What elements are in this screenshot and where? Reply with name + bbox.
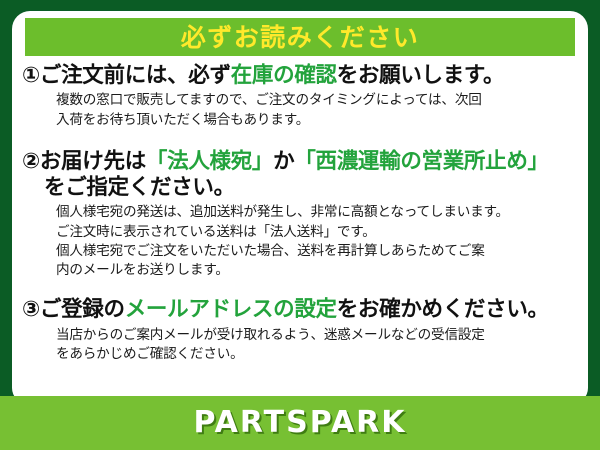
notice-item-2-heading-highlight-1: 「法人様宛」: [146, 149, 273, 174]
notice-item-2-heading-highlight-2: 「西濃運輸の営業所止め」: [294, 149, 548, 174]
notice-item-1: ①ご注文前には、必ず在庫の確認をお願いします。 複数の窓口で販売してますので、ご…: [22, 63, 580, 130]
notice-item-3-body-line-1: をあらかじめご確認ください。: [56, 346, 244, 362]
notice-title: 必ずお読みください: [181, 25, 420, 50]
notice-item-2-marker: ②: [22, 149, 40, 174]
notice-item-1-heading-highlight: 在庫の確認: [231, 63, 337, 88]
notice-item-1-body-line-1: 入荷をお待ち頂いただく場合もあります。: [56, 112, 309, 128]
notice-item-3-heading-highlight: メールアドレスの設定: [125, 297, 337, 322]
notice-item-1-heading-part-2: をお願いします。: [337, 63, 504, 88]
notice-item-1-marker: ①: [22, 63, 40, 88]
notice-item-3-body: 当店からのご案内メールが受け取れるよう、迷惑メールなどの受信設定 をあらかじめご…: [56, 326, 580, 365]
notice-item-1-heading: ①ご注文前には、必ず在庫の確認をお願いします。: [22, 63, 580, 89]
notice-item-2-heading: ②お届け先は「法人様宛」か「西濃運輸の営業所止め」: [22, 149, 580, 175]
notice-item-2-body-line-3: 内のメールをお送りします。: [56, 262, 229, 278]
notice-item-2-heading-part-2: か: [273, 149, 294, 174]
notice-item-1-heading-part-0: ご注文前には、必ず: [40, 63, 231, 88]
notice-item-3-marker: ③: [22, 297, 40, 322]
notice-panel: 必ずお読みください ①ご注文前には、必ず在庫の確認をお願いします。 複数の窓口で…: [12, 11, 588, 404]
notice-item-3: ③ご登録のメールアドレスの設定をお確かめください。 当店からのご案内メールが受け…: [22, 297, 580, 364]
notice-item-2-heading-continuation: をご指定ください。: [22, 175, 580, 201]
notice-item-3-heading-part-0: ご登録の: [40, 297, 125, 322]
notice-item-1-body: 複数の窓口で販売してますので、ご注文のタイミングによっては、次回 入荷をお待ち頂…: [56, 91, 580, 130]
section-spacer-1: [22, 136, 580, 149]
notice-item-1-body-line-0: 複数の窓口で販売してますので、ご注文のタイミングによっては、次回: [56, 92, 482, 108]
title-banner: 必ずお読みください: [25, 18, 575, 56]
notice-item-3-heading: ③ご登録のメールアドレスの設定をお確かめください。: [22, 297, 580, 323]
notice-card: 必ずお読みください ①ご注文前には、必ず在庫の確認をお願いします。 複数の窓口で…: [0, 0, 600, 450]
notice-item-3-heading-part-2: をお確かめください。: [337, 297, 549, 322]
notice-item-2-body: 個人様宅宛の発送は、追加送料が発生し、非常に高額となってしまいます。 ご注文時に…: [56, 203, 580, 280]
notice-item-2-body-line-0: 個人様宅宛の発送は、追加送料が発生し、非常に高額となってしまいます。: [56, 204, 509, 220]
notice-item-2-heading-part-0: お届け先は: [40, 149, 146, 174]
notice-content: ①ご注文前には、必ず在庫の確認をお願いします。 複数の窓口で販売してますので、ご…: [12, 63, 588, 370]
section-spacer-2: [22, 286, 580, 297]
notice-item-3-body-line-0: 当店からのご案内メールが受け取れるよう、迷惑メールなどの受信設定: [56, 327, 485, 343]
notice-item-2-body-line-2: 個人様宅宛でご注文をいただいた場合、送料を再計算しあらためてご案: [56, 243, 485, 259]
notice-item-2-body-line-1: ご注文時に表示されている送料は「法人送料」です。: [56, 224, 376, 240]
notice-item-2: ②お届け先は「法人様宛」か「西濃運輸の営業所止め」 をご指定ください。 個人様宅…: [22, 149, 580, 281]
footer-bar: PARTSPARK: [0, 396, 600, 450]
brand-logo-text: PARTSPARK: [193, 408, 406, 438]
